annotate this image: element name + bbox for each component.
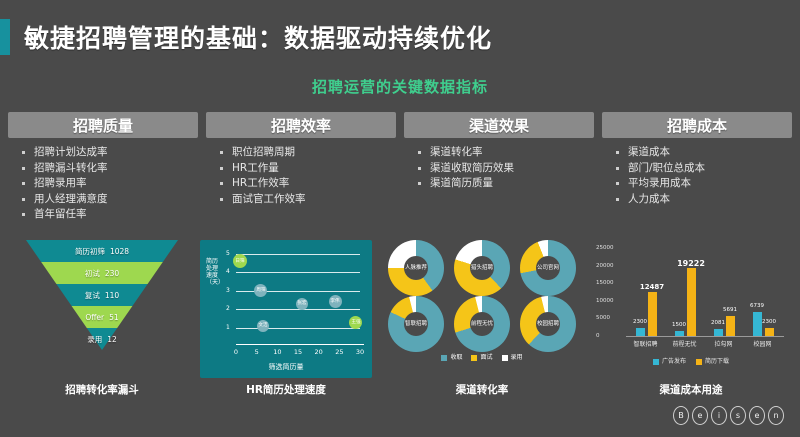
funnel-label-value: 51 [109, 313, 119, 322]
funnel-segment-label: 初试230 [85, 268, 119, 279]
bar-category-label: 校园网 [753, 339, 771, 348]
funnel-segment: Offer51 [12, 306, 192, 328]
chart-caption-resume-speed: HR简历处理速度 [200, 382, 372, 397]
bar-value-label: 19222 [677, 259, 705, 268]
donut-chart: 猎头招聘 [454, 240, 510, 296]
page-title: 敏捷招聘管理的基础：数据驱动持续优化 [24, 19, 492, 55]
bar: 1500 [675, 331, 684, 336]
donut-grid: 人脉推荐猎头招聘公司官网智联招聘前程无忧校园招聘 [382, 240, 582, 352]
y-tick-label: 1 [226, 324, 230, 331]
bar: 5691 [726, 316, 735, 336]
y-tick-label: 5000 [596, 315, 610, 321]
list-item: 渠道收取简历效果 [404, 161, 594, 177]
x-axis-line [236, 344, 364, 345]
logo-letter: B [673, 406, 689, 425]
bar-value-label: 2300 [633, 319, 647, 325]
column-recruiting-cost: 招聘成本 渠道成本 部门/职位总成本 平均录用成本 人力成本 [602, 112, 792, 223]
donut-legend: 收取面试录用 [382, 352, 582, 361]
list-item: 渠道成本 [602, 145, 792, 161]
bar-value-label: 1500 [672, 322, 686, 328]
y-tick-label: 25000 [596, 245, 614, 251]
funnel-chart: 简历初筛1028初试230复试110Offer51录用12 [12, 240, 192, 378]
x-tick-label: 0 [234, 348, 238, 356]
donut-chart: 人脉推荐 [388, 240, 444, 296]
scatter-bubble: 王强 [349, 316, 362, 329]
legend-item: 录用 [502, 352, 523, 361]
legend-label: 简历下载 [705, 358, 729, 365]
legend-swatch [653, 359, 659, 365]
y-tick-label: 10000 [596, 298, 614, 304]
y-tick-label: 2 [226, 305, 230, 312]
legend-label: 广告发布 [662, 358, 686, 365]
bar: 2300 [765, 328, 774, 336]
bar: 12487 [648, 292, 657, 336]
list-item: 用人经理满意度 [8, 192, 198, 208]
x-tick-label: 5 [255, 348, 259, 356]
list-item: 渠道简历质量 [404, 176, 594, 192]
legend-swatch [441, 355, 447, 361]
column-list: 渠道成本 部门/职位总成本 平均录用成本 人力成本 [602, 145, 792, 207]
bubble-label: 日筛 [236, 259, 245, 264]
logo-letter: e [692, 406, 708, 425]
bar: 6739 [753, 312, 762, 336]
funnel-segment: 复试110 [12, 284, 192, 306]
list-item: 面试官工作效率 [206, 192, 396, 208]
list-item: 招聘计划达成率 [8, 145, 198, 161]
scatter-bubble: 张宏 [296, 298, 308, 310]
bubble-label: 文洁 [258, 323, 267, 328]
list-item: 招聘漏斗转化率 [8, 161, 198, 177]
x-axis-label: 筛选简历量 [200, 362, 372, 372]
funnel-label-name: Offer [85, 313, 104, 322]
column-list: 招聘计划达成率 招聘漏斗转化率 招聘录用率 用人经理满意度 首年留任率 [8, 145, 198, 223]
column-recruiting-efficiency: 招聘效率 职位招聘周期 HR工作量 HR工作效率 面试官工作效率 [206, 112, 396, 223]
list-item: 首年留任率 [8, 207, 198, 223]
x-tick-label: 30 [356, 348, 364, 356]
bar: 2081 [714, 329, 723, 336]
list-item: 部门/职位总成本 [602, 161, 792, 177]
legend-item: 简历下载 [696, 356, 729, 365]
bar-value-label: 2300 [762, 319, 776, 325]
column-recruiting-quality: 招聘质量 招聘计划达成率 招聘漏斗转化率 招聘录用率 用人经理满意度 首年留任率 [8, 112, 198, 223]
metric-columns: 招聘质量 招聘计划达成率 招聘漏斗转化率 招聘录用率 用人经理满意度 首年留任率… [8, 112, 792, 223]
legend-item: 面试 [471, 352, 492, 361]
bar-value-label: 6739 [750, 303, 764, 309]
bubble-label: 王强 [351, 320, 360, 325]
bar: 2300 [636, 328, 645, 336]
scatter-bubble: 日筛 [233, 254, 247, 268]
funnel-label-value: 110 [105, 291, 119, 300]
donut-chart: 校园招聘 [520, 296, 576, 352]
scatter-bubble: 文洁 [257, 320, 269, 332]
funnel-label-name: 录用 [87, 335, 102, 344]
donut-label: 校园招聘 [514, 319, 582, 327]
funnel-segment-label: 简历初筛1028 [75, 246, 129, 257]
page-subtitle: 招聘运营的关键数据指标 [0, 76, 800, 97]
bar-body: 0500010000150002000025000 23001248715001… [592, 240, 790, 378]
column-header: 招聘效率 [206, 112, 396, 138]
bar-legend: 广告发布简历下载 [592, 356, 790, 365]
list-item: HR工作量 [206, 161, 396, 177]
donut-label: 猎头招聘 [448, 263, 516, 271]
chart-caption-channel-conversion: 渠道转化率 [382, 382, 582, 397]
x-tick-label: 15 [294, 348, 302, 356]
scatter-bubble: 周筛 [254, 284, 267, 297]
slide-root: 敏捷招聘管理的基础：数据驱动持续优化 招聘运营的关键数据指标 招聘质量 招聘计划… [0, 0, 800, 437]
bubble-label: 周筛 [256, 288, 265, 293]
bar-category-label: 前程无忧 [672, 339, 696, 348]
charts-band: 简历初筛1028初试230复试110Offer51录用12 简历处理速度（天） … [0, 240, 800, 380]
donut-label: 智联招聘 [382, 319, 450, 327]
funnel-label-name: 复试 [85, 291, 100, 300]
donut-chart: 公司官网 [520, 240, 576, 296]
bar-group: 67392300 [753, 248, 774, 336]
list-item: 人力成本 [602, 192, 792, 208]
x-tick-label: 20 [315, 348, 323, 356]
legend-label: 录用 [511, 354, 523, 361]
chart-caption-funnel: 招聘转化率漏斗 [12, 382, 192, 397]
bar: 19222 [687, 268, 696, 336]
bubble-label: 张宏 [298, 301, 307, 306]
donut-chart: 智联招聘 [388, 296, 444, 352]
donut-chart: 前程无忧 [454, 296, 510, 352]
list-item: 平均录用成本 [602, 176, 792, 192]
column-list: 渠道转化率 渠道收取简历效果 渠道简历质量 [404, 145, 594, 192]
legend-label: 收取 [450, 354, 462, 361]
column-header: 招聘成本 [602, 112, 792, 138]
column-channel-effect: 渠道效果 渠道转化率 渠道收取简历效果 渠道简历质量 [404, 112, 594, 223]
x-tick-label: 10 [273, 348, 281, 356]
gridline [236, 328, 360, 329]
list-item: 招聘录用率 [8, 176, 198, 192]
slide-title-row: 敏捷招聘管理的基础：数据驱动持续优化 [0, 18, 492, 56]
scatter-plot-area: 日筛周筛张宏李伟文洁王强 [236, 254, 360, 346]
funnel-segment-label: 复试110 [85, 290, 119, 301]
column-header: 招聘质量 [8, 112, 198, 138]
bar-category-label: 智联招聘 [633, 339, 657, 348]
funnel-label-name: 初试 [85, 269, 100, 278]
logo-letter: s [730, 406, 746, 425]
funnel-segment-label: Offer51 [85, 313, 118, 322]
funnel-label-name: 简历初筛 [75, 247, 105, 256]
bar-category-label: 拉勾网 [714, 339, 732, 348]
y-tick-label: 0 [596, 333, 600, 339]
bar-group: 150019222 [675, 248, 696, 336]
donut-label: 公司官网 [514, 263, 582, 271]
legend-swatch [471, 355, 477, 361]
funnel-segment: 录用12 [12, 328, 192, 350]
y-tick-label: 4 [226, 268, 230, 275]
y-axis-label: 简历处理速度（天） [206, 258, 218, 286]
funnel-label-value: 12 [107, 335, 117, 344]
legend-item: 收取 [441, 352, 462, 361]
bar-group: 20815691 [714, 248, 735, 336]
list-item: HR工作效率 [206, 176, 396, 192]
scatter-body: 简历处理速度（天） 日筛周筛张宏李伟文洁王强 051015202530 1234… [200, 240, 372, 378]
logo-letter: n [768, 406, 784, 425]
resume-speed-chart: 简历处理速度（天） 日筛周筛张宏李伟文洁王强 051015202530 1234… [200, 240, 372, 378]
bar-plot-area: 2300124871500192222081569167392300 [626, 248, 782, 336]
bar-value-label: 12487 [640, 283, 664, 291]
funnel-label-value: 230 [105, 269, 119, 278]
funnel-segment: 简历初筛1028 [12, 240, 192, 262]
y-tick-label: 3 [226, 287, 230, 294]
gridline [236, 309, 360, 310]
x-tick-label: 25 [335, 348, 343, 356]
company-logo: Beisen [673, 406, 784, 425]
gridline [236, 254, 360, 255]
bar-value-label: 2081 [711, 320, 725, 326]
channel-cost-chart: 0500010000150002000025000 23001248715001… [592, 240, 790, 378]
logo-letter: i [711, 406, 727, 425]
bubble-label: 李伟 [331, 300, 340, 305]
list-item: 职位招聘周期 [206, 145, 396, 161]
bar-value-label: 5691 [723, 307, 737, 313]
legend-swatch [696, 359, 702, 365]
donut-label: 前程无忧 [448, 319, 516, 327]
legend-label: 面试 [480, 354, 492, 361]
chart-caption-channel-cost: 渠道成本用途 [592, 382, 790, 397]
funnel-label-value: 1028 [110, 247, 129, 256]
legend-item: 广告发布 [653, 356, 686, 365]
scatter-bubble: 李伟 [329, 295, 342, 308]
y-tick-label: 5 [226, 250, 230, 257]
column-header: 渠道效果 [404, 112, 594, 138]
bar-baseline [626, 336, 784, 337]
bar-group: 230012487 [636, 248, 657, 336]
funnel-segment: 初试230 [12, 262, 192, 284]
donut-label: 人脉推荐 [382, 263, 450, 271]
title-accent-bar [0, 19, 10, 55]
logo-letter: e [749, 406, 765, 425]
funnel-body: 简历初筛1028初试230复试110Offer51录用12 [12, 240, 192, 362]
y-tick-label: 15000 [596, 280, 614, 286]
funnel-segment-label: 录用12 [87, 334, 117, 345]
column-list: 职位招聘周期 HR工作量 HR工作效率 面试官工作效率 [206, 145, 396, 207]
y-tick-label: 20000 [596, 263, 614, 269]
legend-swatch [502, 355, 508, 361]
list-item: 渠道转化率 [404, 145, 594, 161]
gridline [236, 272, 360, 273]
channel-conversion-chart: 人脉推荐猎头招聘公司官网智联招聘前程无忧校园招聘 收取面试录用 [382, 240, 582, 378]
